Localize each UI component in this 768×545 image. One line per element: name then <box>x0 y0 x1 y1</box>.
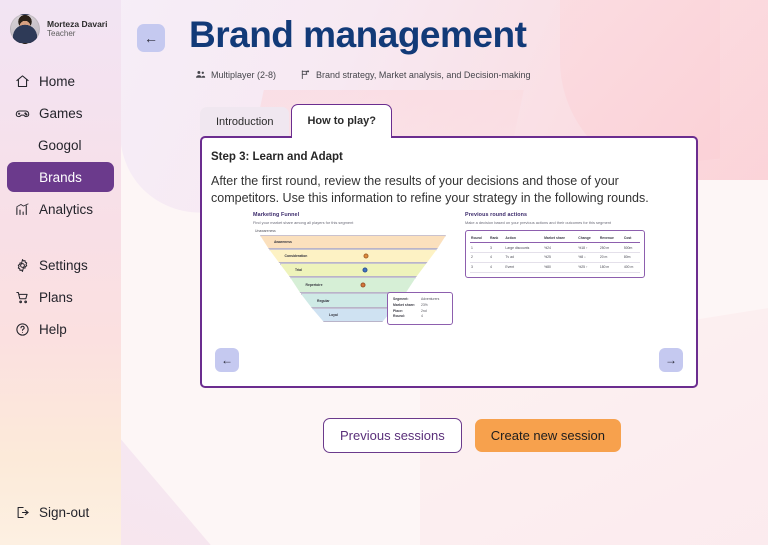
funnel-stage: Repertoire <box>290 277 416 293</box>
table-cell: 2 <box>470 253 489 263</box>
segment-info-value: 4 <box>421 314 423 320</box>
tab-how-to-play[interactable]: How to play? <box>291 104 391 136</box>
page-meta: Multiplayer (2-8) Brand strategy, Market… <box>195 69 530 80</box>
table-cell: %18 ↑ <box>577 243 599 253</box>
funnel-stage-label: Loyal <box>329 313 338 317</box>
sidebar-spacer <box>0 344 121 475</box>
actions-table-box: RoundRankActionMarket shareChangeRevenue… <box>465 230 645 277</box>
sidebar-item-label: Analytics <box>39 202 93 217</box>
table-column-header: Action <box>504 234 543 243</box>
page-title: Brand management <box>189 14 526 56</box>
table-column-header: Cost <box>623 234 640 243</box>
funnel-subtitle: Find your market share among all players… <box>253 220 453 225</box>
sidebar: Morteza Davari Teacher Home Games <box>0 0 121 545</box>
people-icon <box>195 69 206 80</box>
funnel-player-dot <box>364 254 369 259</box>
gear-icon <box>15 258 30 273</box>
card-body: After the first round, review the result… <box>211 173 687 207</box>
user-profile[interactable]: Morteza Davari Teacher <box>0 0 121 44</box>
segment-info-key: Round: <box>393 314 421 320</box>
funnel-stage: Trial <box>280 263 427 277</box>
table-cell: Tv ad <box>504 253 543 263</box>
meta-topics-label: Brand strategy, Market analysis, and Dec… <box>316 70 530 80</box>
table-cell: 1 <box>470 243 489 253</box>
table-cell: 4 <box>489 253 504 263</box>
sign-out-icon <box>15 505 30 520</box>
sidebar-nav-footer: Sign-out <box>0 497 121 527</box>
funnel-player-dot <box>360 283 365 288</box>
nav-divider-space <box>0 226 121 248</box>
content-card: Step 3: Learn and Adapt After the first … <box>200 136 698 388</box>
sidebar-item-label: Brands <box>39 170 82 185</box>
table-column-header: Rank <box>489 234 504 243</box>
table-column-header: Change <box>577 234 599 243</box>
avatar <box>10 14 40 44</box>
carousel-next-button[interactable]: → <box>659 348 683 372</box>
analytics-icon <box>15 202 30 217</box>
illustration: Marketing Funnel Find your market share … <box>208 212 690 334</box>
table-cell: 500m <box>623 243 640 253</box>
table-cell: 3 <box>470 262 489 272</box>
back-button[interactable]: ← <box>137 24 165 52</box>
card-heading: Step 3: Learn and Adapt <box>211 151 696 163</box>
sidebar-nav-primary: Home Games Googol Brands <box>0 66 121 344</box>
sidebar-item-analytics[interactable]: Analytics <box>7 194 114 224</box>
table-header-row: RoundRankActionMarket shareChangeRevenue… <box>470 234 640 243</box>
sidebar-item-help[interactable]: Help <box>7 314 114 344</box>
table-cell: 80m <box>623 253 640 263</box>
sidebar-item-label: Googol <box>38 138 82 153</box>
home-icon <box>15 74 30 89</box>
table-cell: 400 m <box>623 262 640 272</box>
tab-introduction[interactable]: Introduction <box>200 107 289 136</box>
table-row: 13Large discounts%24%18 ↑250 m500m <box>470 243 640 253</box>
table-cell: %8 ↓ <box>577 253 599 263</box>
funnel-title: Marketing Funnel <box>253 212 453 218</box>
sidebar-item-label: Home <box>39 74 75 89</box>
actions-subtitle: Make a decision based on your previous a… <box>465 220 645 225</box>
sidebar-item-brands[interactable]: Brands <box>7 162 114 192</box>
table-column-header: Revenue <box>599 234 623 243</box>
user-name: Morteza Davari <box>47 19 107 30</box>
meta-players: Multiplayer (2-8) <box>195 69 276 80</box>
sidebar-item-googol[interactable]: Googol <box>7 130 114 160</box>
funnel-stage-label: Awareness <box>274 240 292 244</box>
sidebar-item-label: Help <box>39 322 67 337</box>
segment-info-row: Round:4 <box>393 314 447 320</box>
table-row: 34Event%80%25 ↑180 m400 m <box>470 262 640 272</box>
funnel-stage-label: Repertoire <box>306 283 323 287</box>
sidebar-item-plans[interactable]: Plans <box>7 282 114 312</box>
table-cell: Large discounts <box>504 243 543 253</box>
cart-icon <box>15 290 30 305</box>
sidebar-item-label: Plans <box>39 290 73 305</box>
funnel-stage: Awareness <box>260 235 446 249</box>
main-content: ← Brand management Multiplayer (2-8) Bra… <box>121 0 768 545</box>
table-column-header: Round <box>470 234 489 243</box>
footer-actions: Previous sessions Create new session <box>323 418 621 453</box>
flag-icon <box>300 69 311 80</box>
actions-panel: Previous round actions Make a decision b… <box>465 212 645 334</box>
actions-title: Previous round actions <box>465 212 645 218</box>
sidebar-item-sign-out[interactable]: Sign-out <box>7 497 114 527</box>
meta-players-label: Multiplayer (2-8) <box>211 70 276 80</box>
table-cell: 4 <box>489 262 504 272</box>
sidebar-item-settings[interactable]: Settings <box>7 250 114 280</box>
sidebar-item-label: Sign-out <box>39 505 89 520</box>
table-cell: Event <box>504 262 543 272</box>
funnel-stage: Consideration <box>269 249 437 263</box>
table-cell: 180 m <box>599 262 623 272</box>
gamepad-icon <box>15 106 30 121</box>
table-cell: 250 m <box>599 243 623 253</box>
tab-bar: Introduction How to play? <box>200 104 394 136</box>
segment-info-box: Segment:AdventurersMarket share:23%Place… <box>387 292 453 325</box>
table-row: 24Tv ad%25%8 ↓20 m80m <box>470 253 640 263</box>
funnel-stage-label: Consideration <box>285 254 308 258</box>
funnel-stage: Loyal <box>312 308 394 322</box>
actions-table: RoundRankActionMarket shareChangeRevenue… <box>470 234 640 272</box>
meta-topics: Brand strategy, Market analysis, and Dec… <box>300 69 530 80</box>
carousel-prev-button[interactable]: ← <box>215 348 239 372</box>
funnel-panel: Marketing Funnel Find your market share … <box>253 212 453 334</box>
table-cell: 20 m <box>599 253 623 263</box>
table-cell: %24 <box>543 243 577 253</box>
create-new-session-button[interactable]: Create new session <box>475 419 621 452</box>
previous-sessions-button[interactable]: Previous sessions <box>323 418 462 453</box>
sidebar-item-home[interactable]: Home <box>7 66 114 96</box>
table-cell: 3 <box>489 243 504 253</box>
user-role: Teacher <box>47 29 107 39</box>
table-cell: %25 <box>543 253 577 263</box>
question-icon <box>15 322 30 337</box>
funnel-chart: Unawareness AwarenessConsiderationTrialR… <box>253 229 453 329</box>
table-column-header: Market share <box>543 234 577 243</box>
sidebar-item-label: Games <box>39 106 83 121</box>
table-cell: %25 ↑ <box>577 262 599 272</box>
sidebar-item-games[interactable]: Games <box>7 98 114 128</box>
funnel-player-dot <box>362 268 367 273</box>
table-cell: %80 <box>543 262 577 272</box>
funnel-stage-label: Regular <box>317 299 330 303</box>
sidebar-item-label: Settings <box>39 258 88 273</box>
funnel-top-label: Unawareness <box>255 229 276 233</box>
funnel-stage-label: Trial <box>295 268 302 272</box>
